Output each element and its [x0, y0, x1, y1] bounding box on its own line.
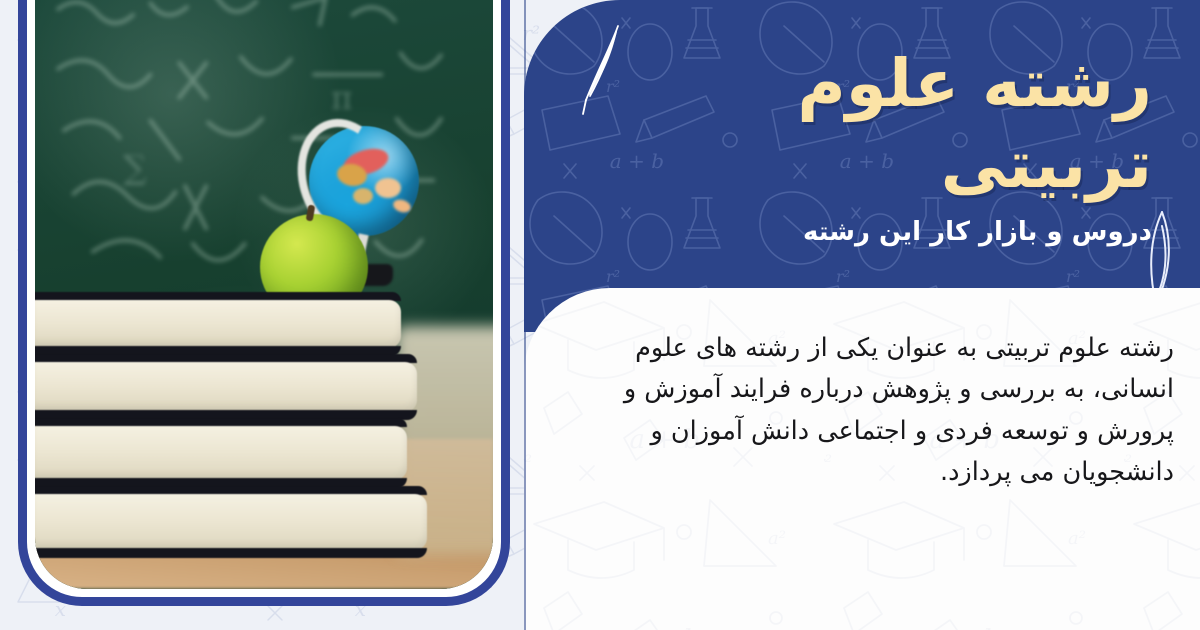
book-stack-item [35, 292, 401, 356]
svg-text:∑: ∑ [123, 148, 146, 186]
book-stack-item [35, 418, 407, 488]
column-divider [524, 0, 526, 630]
svg-text:π: π [331, 79, 352, 117]
header-panel: a + b r² رشته علوم تربیتی دروس و بازار ک… [524, 0, 1200, 332]
description-card: a + b a² r² رشته علوم تربیتی به عنوان یک… [524, 288, 1200, 630]
photo-frame: 2 e U π ∑ [18, 0, 510, 606]
page-title: رشته علوم تربیتی [604, 44, 1152, 205]
description-paragraph: رشته علوم تربیتی به عنوان یکی از رشته ها… [568, 328, 1174, 493]
page-subtitle: دروس و بازار کار این رشته [644, 216, 1152, 250]
classroom-photo: 2 e U π ∑ [35, 0, 493, 589]
book-stack-item [35, 486, 427, 558]
poster-canvas: a + b r² x [0, 0, 1200, 630]
book-stack-item [35, 354, 417, 420]
